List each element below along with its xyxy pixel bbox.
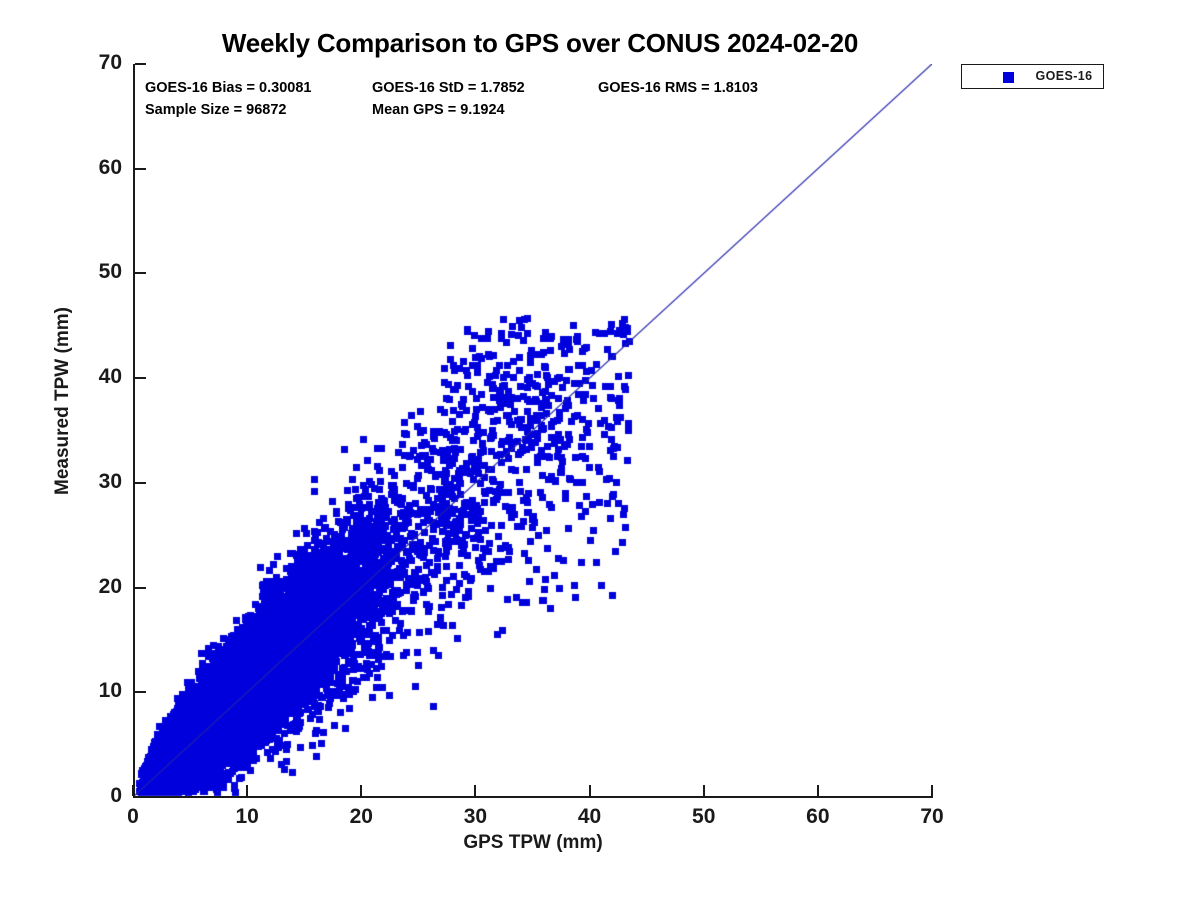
- y-tick-0: [135, 796, 146, 798]
- legend-label-goes-16: GOES-16: [1028, 69, 1100, 83]
- x-axis-title: GPS TPW (mm): [133, 832, 933, 854]
- y-tick-10: [135, 691, 146, 693]
- y-tick-label-20: 20: [52, 575, 122, 599]
- page-title: Weekly Comparison to GPS over CONUS 2024…: [0, 28, 1080, 59]
- x-tick-label-40: 40: [550, 805, 630, 829]
- x-tick-label-20: 20: [321, 805, 401, 829]
- x-axis-line: [133, 796, 933, 798]
- x-tick-70: [931, 785, 933, 796]
- scatter-plot-canvas: [133, 64, 932, 797]
- x-tick-label-50: 50: [664, 805, 744, 829]
- x-tick-0: [132, 785, 134, 796]
- legend: GOES-16: [961, 64, 1104, 89]
- x-tick-30: [474, 785, 476, 796]
- y-tick-40: [135, 377, 146, 379]
- y-tick-label-70: 70: [52, 51, 122, 75]
- x-tick-10: [246, 785, 248, 796]
- x-tick-20: [360, 785, 362, 796]
- y-axis-line: [133, 64, 135, 798]
- y-tick-20: [135, 587, 146, 589]
- x-tick-label-30: 30: [435, 805, 515, 829]
- y-tick-50: [135, 272, 146, 274]
- chart-figure: Weekly Comparison to GPS over CONUS 2024…: [0, 0, 1200, 900]
- x-tick-60: [817, 785, 819, 796]
- y-tick-60: [135, 168, 146, 170]
- x-tick-label-10: 10: [207, 805, 287, 829]
- legend-swatch-goes-16: [1003, 72, 1014, 83]
- plot-area: [133, 64, 932, 797]
- x-tick-40: [589, 785, 591, 796]
- y-tick-label-60: 60: [52, 156, 122, 180]
- y-tick-70: [135, 63, 146, 65]
- y-tick-label-10: 10: [52, 679, 122, 703]
- y-axis-title: Measured TPW (mm): [52, 291, 74, 511]
- y-tick-30: [135, 482, 146, 484]
- x-tick-label-60: 60: [778, 805, 858, 829]
- x-tick-50: [703, 785, 705, 796]
- x-tick-label-0: 0: [93, 805, 173, 829]
- x-tick-label-70: 70: [892, 805, 972, 829]
- y-tick-label-50: 50: [52, 260, 122, 284]
